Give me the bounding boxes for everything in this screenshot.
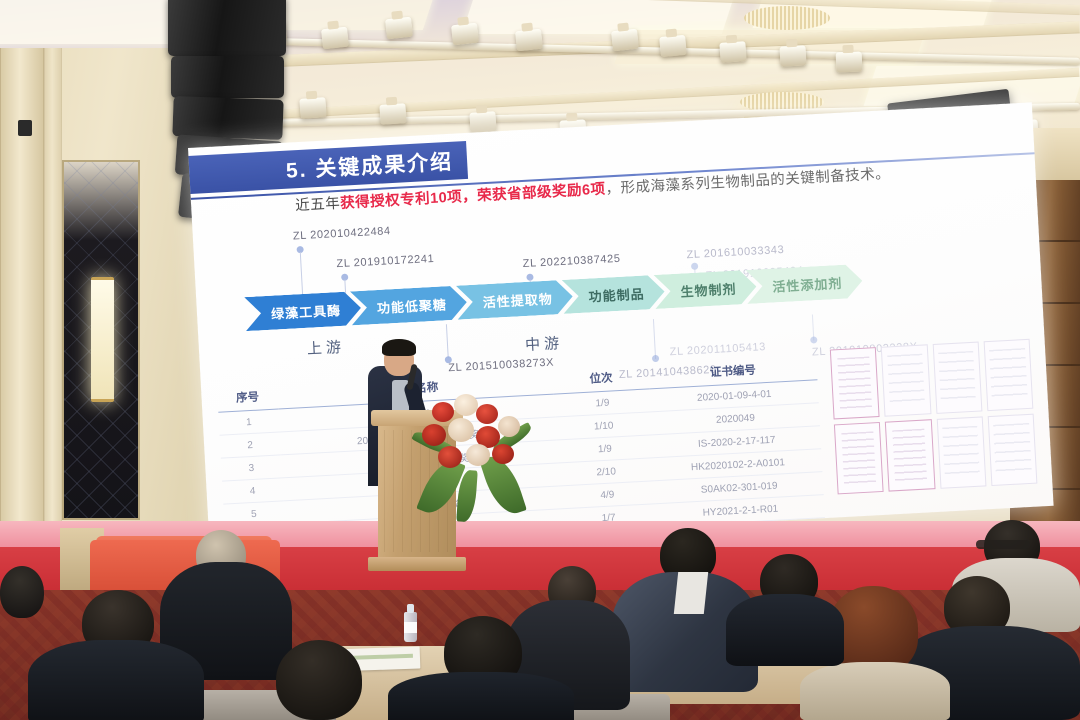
- slide-title: 5. 关键成果介绍: [285, 146, 454, 185]
- wall-niche: [62, 160, 140, 520]
- column-header-index: 序号: [217, 384, 278, 413]
- stage-light: [836, 52, 863, 73]
- chain-node-1: 绿藻工具酶: [244, 291, 362, 331]
- stage-label-midstream: 中游: [525, 332, 564, 355]
- stage-light: [385, 17, 413, 40]
- certificate-thumbnail: [932, 342, 982, 414]
- certificate-thumbnail: [936, 416, 986, 488]
- stage-light: [321, 27, 349, 50]
- stage-light: [451, 23, 479, 46]
- certificate-thumbnail: [983, 339, 1033, 411]
- chain-node-6: 活性添加剂: [745, 264, 863, 304]
- certificate-thumbnail: [881, 344, 931, 416]
- patent-label: ZL 202011105413: [669, 341, 766, 358]
- certificate-thumbnail: [834, 422, 884, 494]
- chandelier-ring: [744, 6, 830, 30]
- audience-head: [0, 566, 44, 618]
- audience-torso: [28, 640, 204, 720]
- patent-label: ZL 202210387425: [522, 253, 620, 270]
- audience-torso: [388, 672, 574, 720]
- stage-light: [379, 103, 406, 125]
- projection-screen: 5. 关键成果介绍 近五年获得授权专利10项，荣获省部级奖励6项，形成海藻系列生…: [188, 102, 1054, 551]
- patent-label: ZL 201610033343: [686, 244, 784, 261]
- stage-light: [299, 97, 326, 119]
- chain-node-5: 生物制剂: [654, 269, 758, 308]
- chain-node-2: 功能低聚糖: [350, 285, 468, 325]
- eyeglasses: [976, 540, 1030, 549]
- subtitle-sep-2: ，: [605, 181, 621, 198]
- certificate-thumbnail: [885, 419, 935, 491]
- conference-hall-photo: 5. 关键成果介绍 近五年获得授权专利10项，荣获省部级奖励6项，形成海藻系列生…: [0, 0, 1080, 720]
- patent-label: ZL 202010422484: [293, 225, 391, 242]
- cell-index: 2: [220, 432, 281, 458]
- audience-torso: [726, 594, 844, 666]
- water-bottle: [404, 604, 417, 642]
- chain-node-3: 活性提取物: [456, 279, 574, 319]
- value-chain: 绿藻工具酶 功能低聚糖 活性提取物 功能制品 生物制剂 活性添加剂: [244, 264, 853, 331]
- subtitle-sep-1: ，: [462, 188, 478, 205]
- stage-light: [719, 41, 746, 63]
- stage-light: [469, 111, 496, 133]
- stage-light: [515, 29, 543, 52]
- subtitle-highlight-1: 获得授权专利10项: [340, 189, 463, 212]
- audience-head: [276, 640, 362, 720]
- subtitle-tail: 形成海藻系列生物制品的关键制备技术。: [620, 166, 890, 197]
- audience-shirt: [674, 572, 708, 614]
- stage-label-upstream: 上游: [306, 336, 345, 359]
- subtitle-highlight-2: 荣获省部级奖励6项: [477, 181, 606, 204]
- niche-lamp: [91, 277, 114, 402]
- audience-torso: [800, 662, 950, 720]
- stage-light: [659, 35, 687, 57]
- stage-light: [779, 45, 806, 66]
- presenter-hair: [382, 339, 416, 356]
- cell-index: 1: [218, 409, 279, 435]
- stage-light: [611, 29, 639, 52]
- certificate-thumbnail: [830, 347, 880, 419]
- certificate-thumbnail: [987, 414, 1037, 486]
- certificate-gallery: [830, 339, 1038, 495]
- chain-node-4: 功能制品: [562, 274, 666, 313]
- patent-label: ZL 201910172241: [336, 253, 434, 270]
- cell-index: 4: [222, 478, 283, 504]
- flower-arrangement: [418, 392, 530, 510]
- subtitle-lead: 近五年: [295, 196, 341, 214]
- cell-index: 3: [221, 455, 282, 481]
